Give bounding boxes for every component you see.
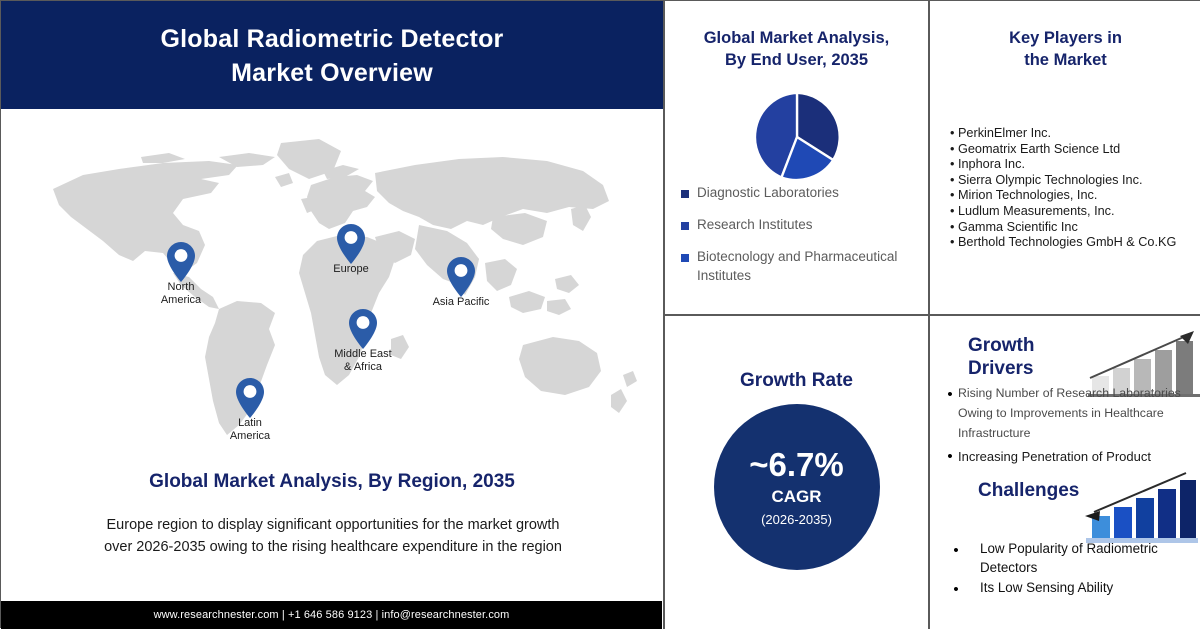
legend-label: Diagnostic Laboratories: [697, 184, 839, 202]
key-players-panel: Key Players in the Market • PerkinElmer …: [930, 1, 1200, 314]
list-item: • Gamma Scientific Inc: [950, 220, 1198, 236]
growth-driver-text: Increasing Penetration of Product: [958, 446, 1151, 467]
legend-label: Biotecnology and Pharmaceutical Institut…: [697, 248, 929, 284]
region-note-line1: Europe region to display significant opp…: [41, 514, 625, 536]
challenges-trend-bar-chart-icon: [1080, 468, 1198, 546]
growth-driver-text: Rising Number of Research Laboratories O…: [958, 384, 1192, 444]
challenge-text: Low Popularity of Radiometric Detectors: [964, 540, 1198, 577]
list-item: • Low Popularity of Radiometric Detector…: [948, 540, 1198, 577]
growth-drivers-list: • Rising Number of Research Laboratories…: [942, 384, 1192, 469]
map-label-middle-east-africa: Middle East & Africa: [334, 348, 391, 373]
list-item: • PerkinElmer Inc.: [950, 126, 1198, 142]
challenges-title: Challenges: [978, 480, 1079, 502]
cagr-value: ~6.7%: [749, 448, 844, 481]
page-title-line1: Global Radiometric Detector: [1, 23, 663, 57]
map-pin-latin-america[interactable]: Latin America: [235, 377, 265, 419]
legend-item: Diagnostic Laboratories: [681, 184, 929, 202]
legend-label: Research Institutes: [697, 216, 813, 234]
end-user-title-line1: Global Market Analysis,: [665, 27, 928, 49]
region-analysis-note: Europe region to display significant opp…: [41, 514, 625, 559]
map-pin-europe[interactable]: Europe: [336, 223, 366, 265]
end-user-pie-chart: [750, 90, 844, 184]
growth-rate-title: Growth Rate: [665, 368, 928, 394]
cagr-badge: ~6.7% CAGR (2026-2035): [714, 404, 880, 570]
challenges-list: • Low Popularity of Radiometric Detector…: [948, 540, 1198, 603]
key-players-list: • PerkinElmer Inc. • Geomatrix Earth Sci…: [950, 126, 1198, 251]
growth-rate-panel: Growth Rate ~6.7% CAGR (2026-2035): [665, 316, 928, 629]
key-players-title-line1: Key Players in: [930, 27, 1200, 49]
list-item: • Rising Number of Research Laboratories…: [942, 384, 1192, 444]
map-label-asia-pacific: Asia Pacific: [433, 296, 490, 309]
bullet-icon: •: [942, 446, 958, 468]
header-band: Global Radiometric Detector Market Overv…: [1, 1, 663, 109]
legend-swatch-icon: [681, 190, 689, 198]
growth-drivers-title: Growth Drivers: [968, 334, 1088, 380]
end-user-title-line2: By End User, 2035: [665, 49, 928, 71]
legend-item: Biotecnology and Pharmaceutical Institut…: [681, 248, 929, 284]
list-item: • Inphora Inc.: [950, 157, 1198, 173]
region-analysis-heading: Global Market Analysis, By Region, 2035: [1, 471, 663, 493]
bullet-icon: •: [948, 579, 964, 601]
growth-drivers-title-line1: Growth: [968, 334, 1088, 357]
list-item: • Ludlum Measurements, Inc.: [950, 204, 1198, 220]
footer-bar: www.researchnester.com | +1 646 586 9123…: [1, 601, 662, 629]
cagr-metric-label: CAGR: [771, 487, 821, 507]
bullet-icon: •: [942, 384, 958, 406]
legend-item: Research Institutes: [681, 216, 929, 234]
end-user-legend: Diagnostic Laboratories Research Institu…: [681, 184, 929, 299]
list-item: • Berthold Technologies GmbH & Co.KG: [950, 235, 1198, 251]
challenge-text: Its Low Sensing Ability: [964, 579, 1113, 598]
bullet-icon: •: [948, 540, 964, 562]
page-title-line2: Market Overview: [1, 57, 663, 91]
list-item: • Mirion Technologies, Inc.: [950, 188, 1198, 204]
key-players-title-line2: the Market: [930, 49, 1200, 71]
growth-drivers-title-line2: Drivers: [968, 357, 1088, 380]
drivers-challenges-panel: Growth Drivers • Rising Number of Resear…: [930, 316, 1200, 629]
legend-swatch-icon: [681, 254, 689, 262]
map-pin-north-america[interactable]: North America: [166, 241, 196, 283]
map-pin-middle-east-africa[interactable]: Middle East & Africa: [348, 308, 378, 350]
region-note-line2: over 2026-2035 owing to the rising healt…: [41, 536, 625, 558]
end-user-panel: Global Market Analysis, By End User, 203…: [665, 1, 928, 314]
page-title: Global Radiometric Detector Market Overv…: [1, 23, 663, 91]
world-map: North America Latin America: [23, 113, 653, 458]
legend-swatch-icon: [681, 222, 689, 230]
left-panel: Global Radiometric Detector Market Overv…: [1, 1, 663, 629]
list-item: • Geomatrix Earth Science Ltd: [950, 142, 1198, 158]
map-pin-asia-pacific[interactable]: Asia Pacific: [446, 256, 476, 298]
key-players-title: Key Players in the Market: [930, 1, 1200, 72]
infographic-canvas: Global Radiometric Detector Market Overv…: [0, 0, 1200, 628]
map-label-europe: Europe: [333, 263, 368, 276]
list-item: • Sierra Olympic Technologies Inc.: [950, 173, 1198, 189]
list-item: • Increasing Penetration of Product: [942, 446, 1192, 468]
list-item: • Its Low Sensing Ability: [948, 579, 1198, 601]
map-label-north-america: North America: [161, 281, 201, 306]
cagr-period: (2026-2035): [761, 512, 832, 527]
end-user-title: Global Market Analysis, By End User, 203…: [665, 1, 928, 72]
footer-contact-text: www.researchnester.com | +1 646 586 9123…: [154, 609, 510, 621]
map-label-latin-america: Latin America: [230, 417, 270, 442]
